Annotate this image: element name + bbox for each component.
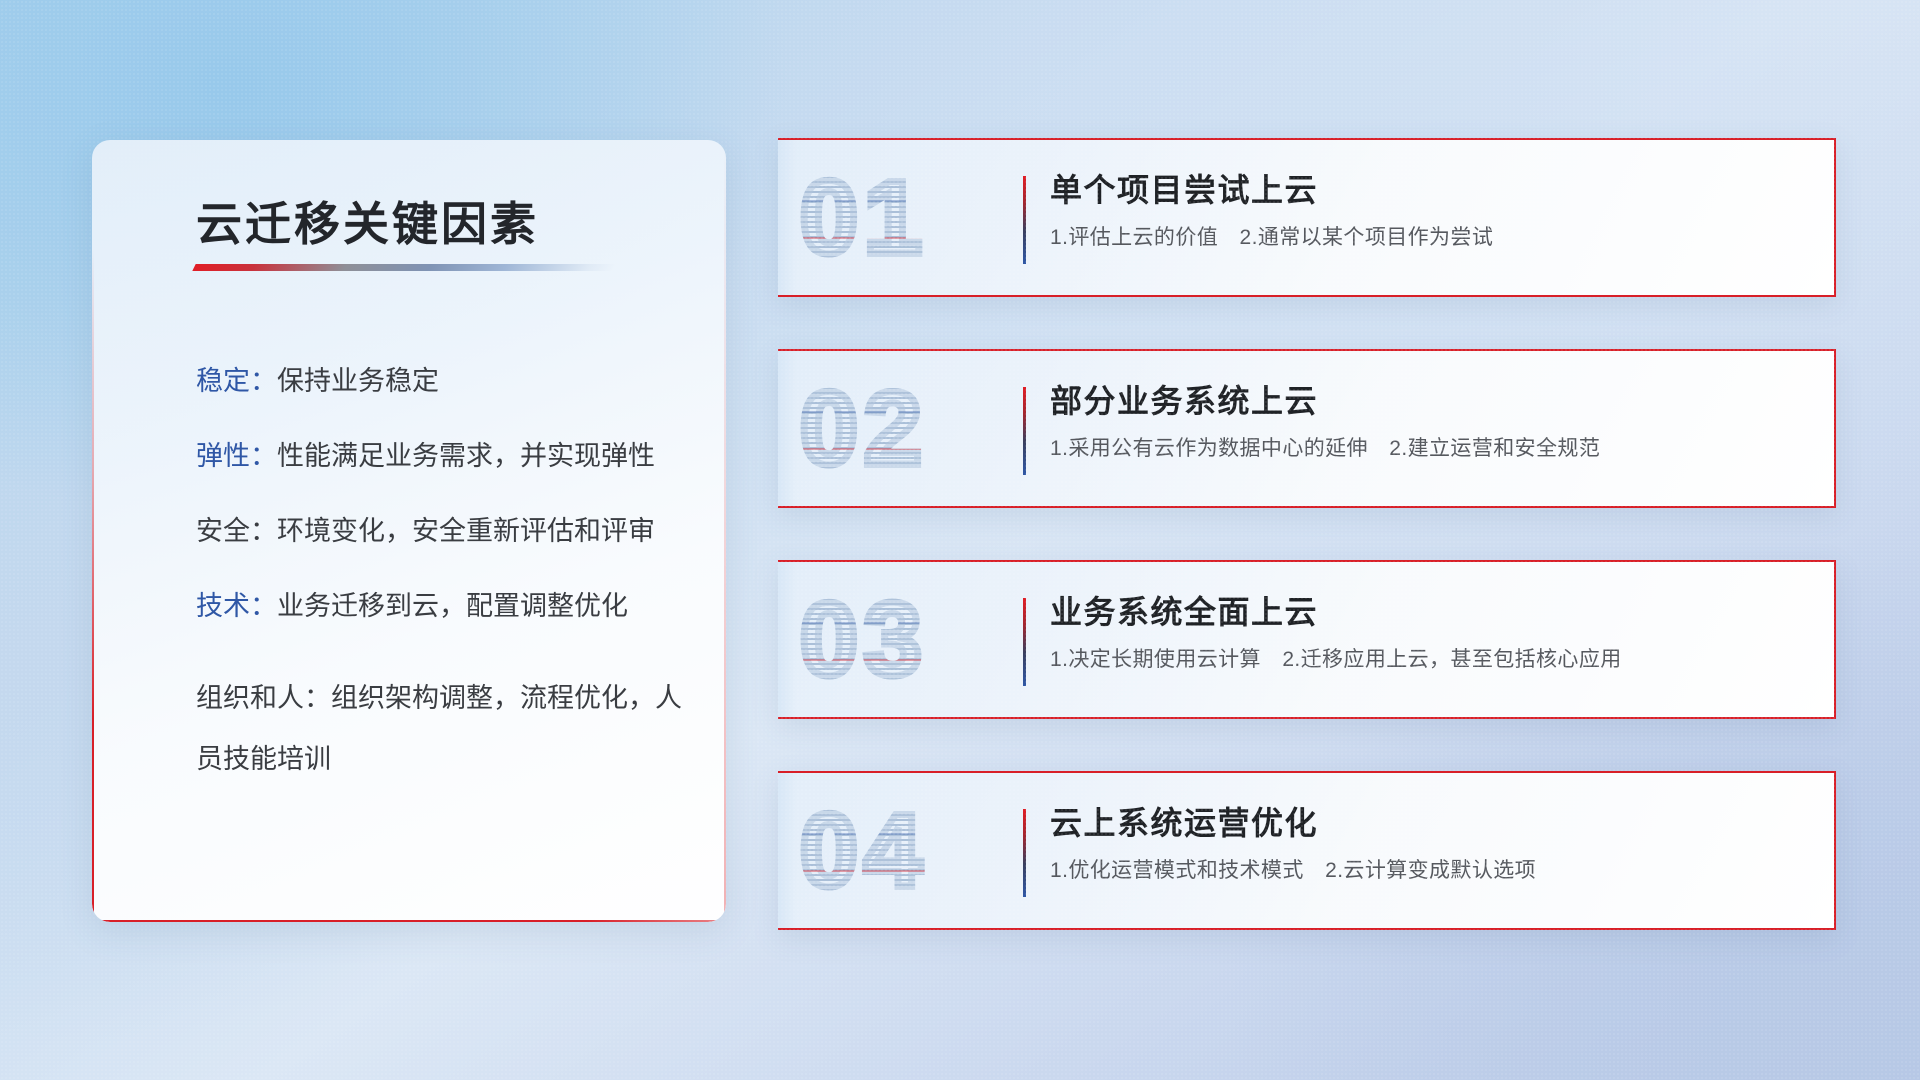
list-item-text: 业务迁移到云，配置调整优化 bbox=[277, 591, 628, 621]
step-divider-bar bbox=[1023, 809, 1026, 897]
step-body: 单个项目尝试上云 1.评估上云的价值 2.通常以某个项目作为尝试 bbox=[1050, 170, 1810, 251]
list-item-label: 组织和人： bbox=[196, 683, 331, 713]
step-body: 云上系统运营优化 1.优化运营模式和技术模式 2.云计算变成默认选项 bbox=[1050, 803, 1810, 884]
step-description: 1.采用公有云作为数据中心的延伸 2.建立运营和安全规范 bbox=[1050, 435, 1810, 462]
step-divider-bar bbox=[1023, 387, 1026, 475]
step-description: 1.决定长期使用云计算 2.迁移应用上云，甚至包括核心应用 bbox=[1050, 646, 1810, 673]
step-divider-bar bbox=[1023, 176, 1026, 264]
step-number-ghost: 02 bbox=[800, 377, 928, 481]
step-description: 1.优化运营模式和技术模式 2.云计算变成默认选项 bbox=[1050, 857, 1810, 884]
step-divider-bar bbox=[1023, 598, 1026, 686]
slide-canvas: 云迁移关键因素 稳定：保持业务稳定 弹性：性能满足业务需求，并实现弹性 安全：环… bbox=[0, 0, 1920, 1080]
page-title: 云迁移关键因素 bbox=[196, 188, 539, 254]
list-item-text: 环境变化，安全重新评估和评审 bbox=[277, 516, 655, 546]
list-item-label: 弹性： bbox=[196, 441, 277, 471]
migration-steps-list: 01 01 单个项目尝试上云 1.评估上云的价值 2.通常以某个项目作为尝试 0… bbox=[778, 138, 1836, 982]
list-item-label: 技术： bbox=[196, 591, 277, 621]
list-item-label: 安全： bbox=[196, 516, 277, 546]
key-factors-card: 云迁移关键因素 稳定：保持业务稳定 弹性：性能满足业务需求，并实现弹性 安全：环… bbox=[92, 140, 726, 922]
list-item-label: 稳定： bbox=[196, 366, 277, 396]
step-title: 业务系统全面上云 bbox=[1050, 592, 1810, 632]
list-item: 组织和人：组织架构调整，流程优化，人员技能培训 bbox=[196, 668, 694, 790]
step-title: 部分业务系统上云 bbox=[1050, 381, 1810, 421]
step-number-ghost: 04 bbox=[800, 799, 928, 903]
list-item-text: 保持业务稳定 bbox=[277, 366, 439, 396]
step-card[interactable]: 03 03 业务系统全面上云 1.决定长期使用云计算 2.迁移应用上云，甚至包括… bbox=[778, 560, 1836, 719]
step-number-glitch-overlay: 04 bbox=[800, 799, 928, 903]
step-title: 云上系统运营优化 bbox=[1050, 803, 1810, 843]
step-number-ghost: 01 bbox=[800, 166, 928, 270]
list-item: 弹性：性能满足业务需求，并实现弹性 bbox=[196, 443, 694, 470]
step-number-glitch-overlay: 02 bbox=[800, 377, 928, 481]
title-underline-accent bbox=[192, 264, 615, 271]
list-item: 安全：环境变化，安全重新评估和评审 bbox=[196, 518, 694, 545]
step-number-glitch-overlay: 01 bbox=[800, 166, 928, 270]
step-card[interactable]: 02 02 部分业务系统上云 1.采用公有云作为数据中心的延伸 2.建立运营和安… bbox=[778, 349, 1836, 508]
list-item: 稳定：保持业务稳定 bbox=[196, 368, 694, 395]
key-factors-list: 稳定：保持业务稳定 弹性：性能满足业务需求，并实现弹性 安全：环境变化，安全重新… bbox=[196, 368, 694, 790]
step-description: 1.评估上云的价值 2.通常以某个项目作为尝试 bbox=[1050, 224, 1810, 251]
step-card[interactable]: 01 01 单个项目尝试上云 1.评估上云的价值 2.通常以某个项目作为尝试 bbox=[778, 138, 1836, 297]
step-title: 单个项目尝试上云 bbox=[1050, 170, 1810, 210]
step-card[interactable]: 04 04 云上系统运营优化 1.优化运营模式和技术模式 2.云计算变成默认选项 bbox=[778, 771, 1836, 930]
list-item-text: 性能满足业务需求，并实现弹性 bbox=[277, 441, 655, 471]
list-item: 技术：业务迁移到云，配置调整优化 bbox=[196, 593, 694, 620]
step-number-glitch-overlay: 03 bbox=[800, 588, 928, 692]
step-number-ghost: 03 bbox=[800, 588, 928, 692]
step-body: 部分业务系统上云 1.采用公有云作为数据中心的延伸 2.建立运营和安全规范 bbox=[1050, 381, 1810, 462]
step-body: 业务系统全面上云 1.决定长期使用云计算 2.迁移应用上云，甚至包括核心应用 bbox=[1050, 592, 1810, 673]
